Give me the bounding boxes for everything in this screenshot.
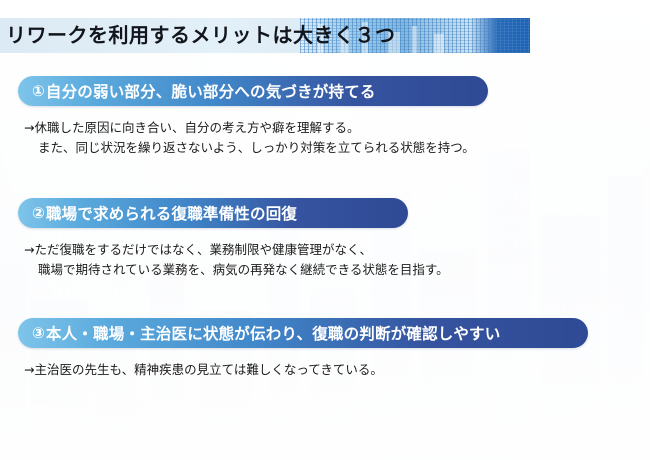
benefit-3-number: ③ [32,324,45,342]
page-title: リワークを利用するメリットは大きく３つ [6,18,396,53]
benefit-1-body-line-1: →休職した原因に向き合い、自分の考え方や癖を理解する。 [24,118,650,138]
benefit-2-heading-banner: ② 職場で求められる復職準備性の回復 [18,198,408,228]
benefit-3-body: →主治医の先生も、精神疾患の見立ては難しくなってきている。 [24,360,650,380]
benefit-2-body: →ただ復職をするだけではなく、業務制限や健康管理がなく、 職場で期待されている業… [24,240,650,281]
benefit-item-1: ① 自分の弱い部分、脆い部分への気づきが持てる →休職した原因に向き合い、自分の… [0,76,650,159]
slide-root: リワークを利用するメリットは大きく３つ ① 自分の弱い部分、脆い部分への気づきが… [0,0,650,460]
benefit-3-body-line-1: →主治医の先生も、精神疾患の見立ては難しくなってきている。 [24,360,650,380]
benefit-2-body-line-2: 職場で期待されている業務を、病気の再発なく継続できる状態を目指す。 [24,260,650,280]
benefit-1-number: ① [32,82,45,100]
benefit-1-body-line-2: また、同じ状況を繰り返さないよう、しっかり対策を立てられる状態を持つ。 [24,138,650,158]
benefit-1-body: →休職した原因に向き合い、自分の考え方や癖を理解する。 また、同じ状況を繰り返さ… [24,118,650,159]
benefit-item-2: ② 職場で求められる復職準備性の回復 →ただ復職をするだけではなく、業務制限や健… [0,198,650,281]
benefit-2-body-line-1: →ただ復職をするだけではなく、業務制限や健康管理がなく、 [24,240,650,260]
benefit-1-heading-text: 自分の弱い部分、脆い部分への気づきが持てる [46,80,376,102]
benefit-1-heading-banner: ① 自分の弱い部分、脆い部分への気づきが持てる [18,76,488,106]
benefit-2-number: ② [32,204,45,222]
benefit-2-heading-text: 職場で求められる復職準備性の回復 [46,202,297,224]
benefit-3-heading-text: 本人・職場・主治医に状態が伝わり、復職の判断が確認しやすい [46,322,501,344]
slide-title-band: リワークを利用するメリットは大きく３つ [0,18,530,53]
benefit-3-heading-banner: ③ 本人・職場・主治医に状態が伝わり、復職の判断が確認しやすい [18,318,588,348]
benefit-item-3: ③ 本人・職場・主治医に状態が伝わり、復職の判断が確認しやすい →主治医の先生も… [0,318,650,380]
